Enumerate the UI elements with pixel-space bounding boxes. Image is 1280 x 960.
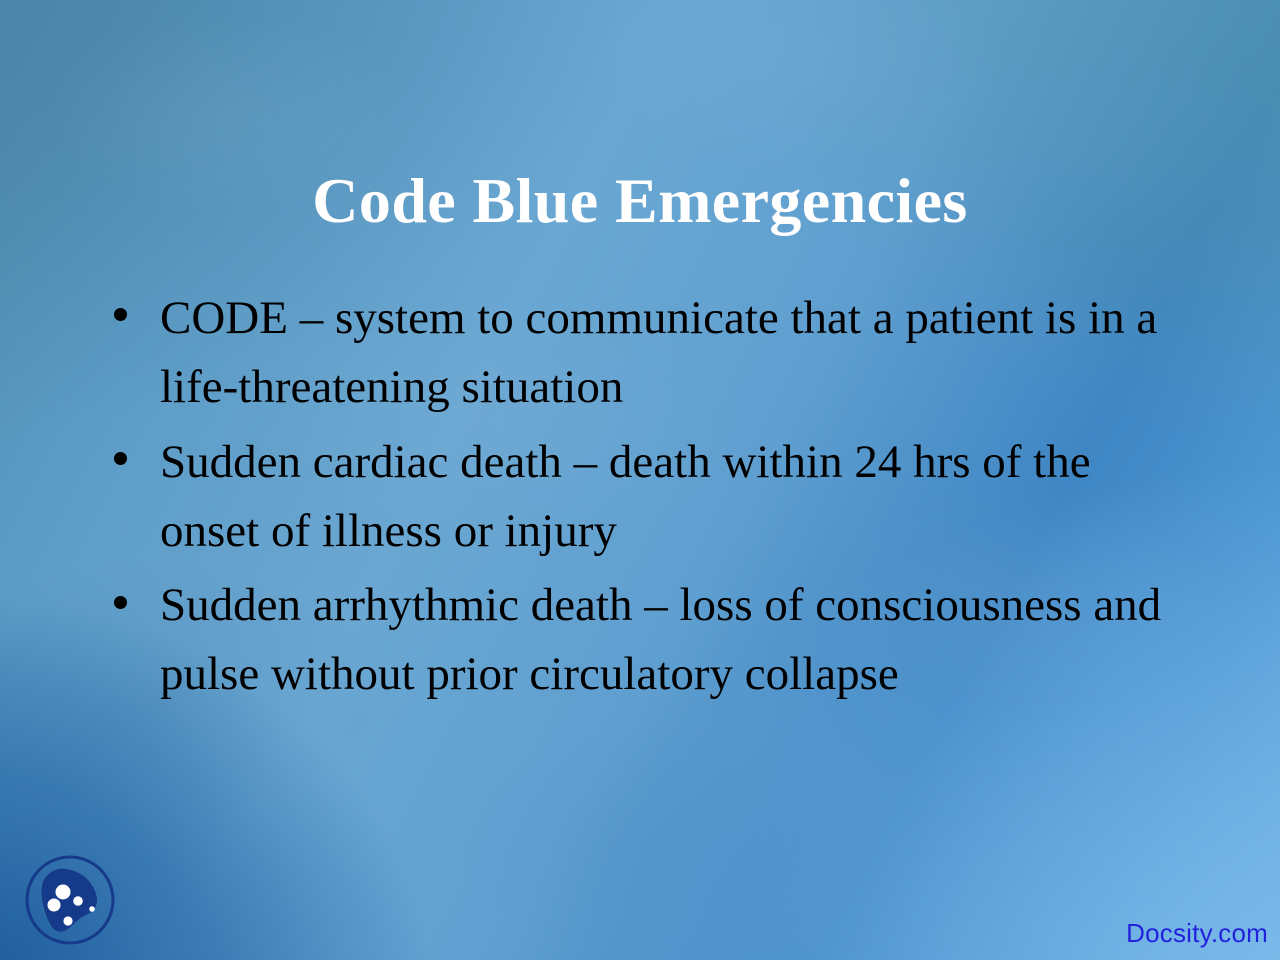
- list-item: CODE – system to communicate that a pati…: [96, 284, 1200, 422]
- docsity-watermark: Docsity.com: [1126, 918, 1268, 949]
- list-item-text: Sudden cardiac death – death within 24 h…: [160, 428, 1200, 566]
- bullet-dot-icon: [114, 308, 127, 321]
- bullet-dot-icon: [114, 596, 127, 609]
- slide-body-bullet-list: CODE – system to communicate that a pati…: [96, 284, 1200, 709]
- list-item-text: Sudden arrhythmic death – loss of consci…: [160, 571, 1200, 709]
- list-item-text: CODE – system to communicate that a pati…: [160, 284, 1200, 422]
- list-item: Sudden arrhythmic death – loss of consci…: [96, 571, 1200, 709]
- presentation-slide: Code Blue Emergencies CODE – system to c…: [0, 0, 1280, 960]
- slide-title: Code Blue Emergencies: [0, 167, 1280, 235]
- list-item: Sudden cardiac death – death within 24 h…: [96, 428, 1200, 566]
- bullet-dot-icon: [114, 452, 127, 465]
- docsity-logo-icon: [22, 852, 118, 948]
